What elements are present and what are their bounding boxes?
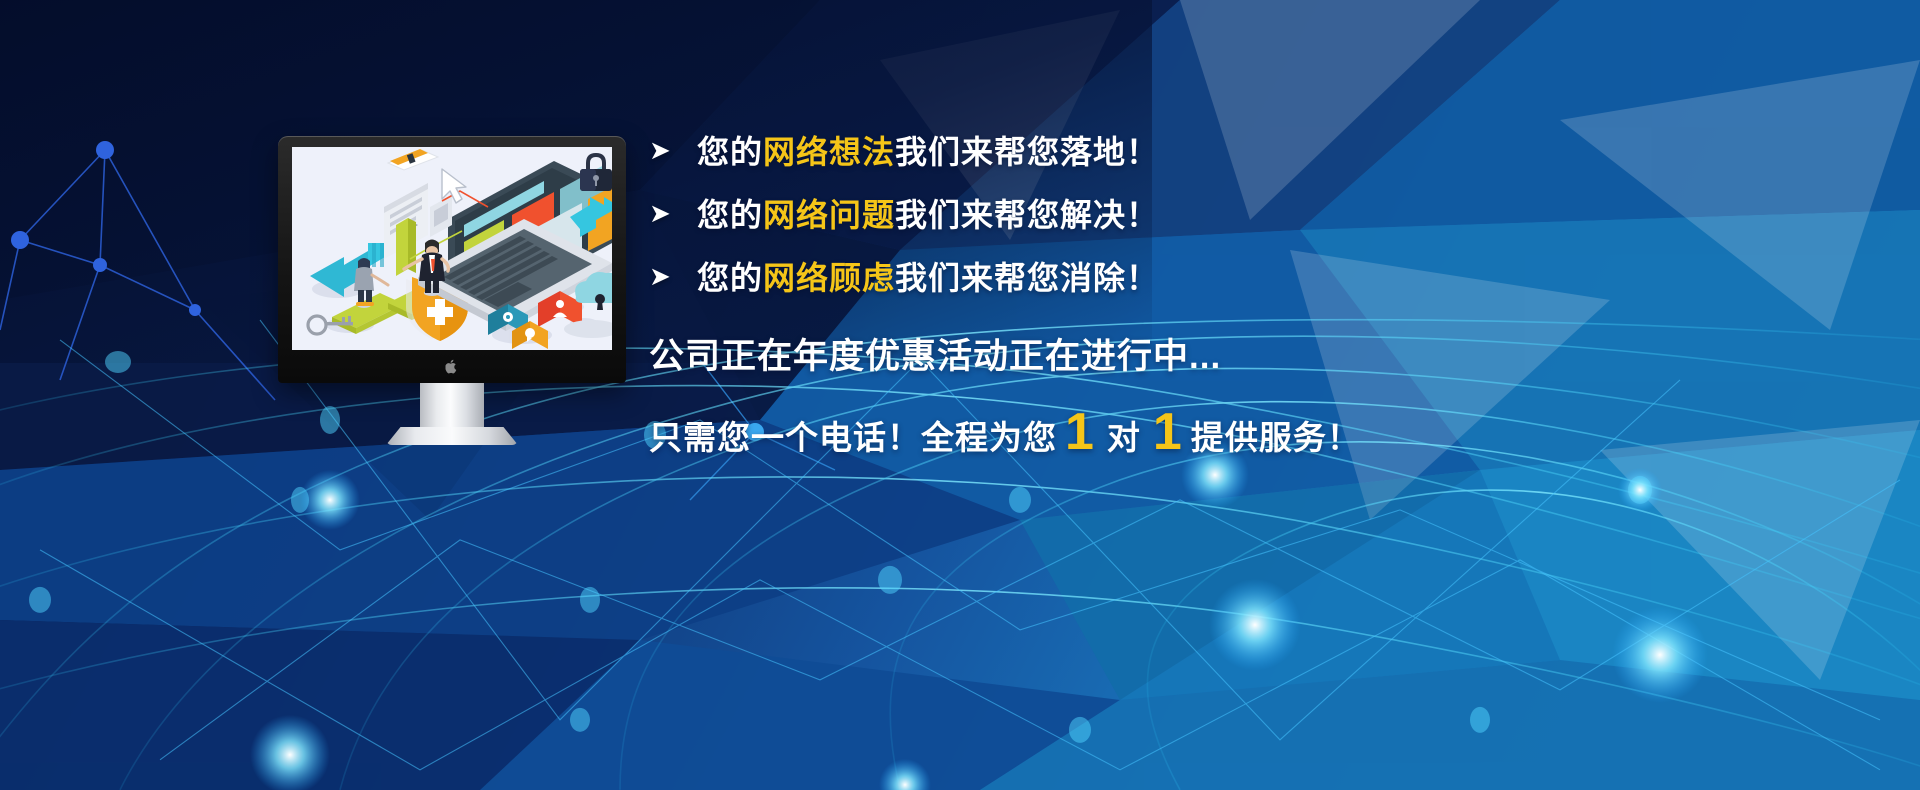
bullet-item: ➤ 您的网络想法我们来帮您落地！: [649, 120, 1829, 180]
cta-lead: 只需您一个电话！全程为您: [649, 411, 1057, 459]
bullet-prefix: 您的: [697, 134, 763, 170]
arrow-right-icon: ➤: [649, 200, 697, 226]
bullet-text: 您的网络顾虑我们来帮您消除！: [697, 253, 1159, 299]
apple-logo-icon: [446, 359, 459, 374]
cta-number-one: 1: [1057, 409, 1103, 456]
bullet-highlight: 网络问题: [763, 197, 895, 233]
bullet-text: 您的网络问题我们来帮您解决！: [697, 190, 1159, 236]
promo-line: 公司正在年度优惠活动正在进行中...: [649, 328, 1829, 379]
bullet-suffix: 我们来帮您消除！: [895, 260, 1159, 296]
cta-line: 只需您一个电话！全程为您 1 对 1 提供服务！: [649, 409, 1829, 459]
arrow-right-icon: ➤: [649, 263, 697, 289]
cta-middle: 对: [1103, 411, 1145, 459]
bullet-prefix: 您的: [697, 197, 763, 233]
hero-banner: ➤ 您的网络想法我们来帮您落地！ ➤ 您的网络问题我们来帮您解决！ ➤ 您的网络…: [0, 0, 1920, 790]
monitor-chin: [278, 350, 626, 383]
bullet-item: ➤ 您的网络顾虑我们来帮您消除！: [649, 246, 1829, 306]
bullet-suffix: 我们来帮您落地！: [895, 134, 1159, 170]
monitor-screen: [292, 147, 612, 350]
bullet-highlight: 网络顾虑: [763, 260, 895, 296]
bullet-item: ➤ 您的网络问题我们来帮您解决！: [649, 183, 1829, 243]
monitor-bezel: [278, 136, 626, 383]
bullet-suffix: 我们来帮您解决！: [895, 197, 1159, 233]
imac-monitor: [278, 136, 626, 446]
cta-tail: 提供服务！: [1191, 411, 1361, 459]
isometric-illustration: [292, 147, 612, 350]
arrow-right-icon: ➤: [649, 137, 697, 163]
bullet-text: 您的网络想法我们来帮您落地！: [697, 127, 1159, 173]
monitor-stand-base: [386, 427, 518, 445]
marketing-copy: ➤ 您的网络想法我们来帮您落地！ ➤ 您的网络问题我们来帮您解决！ ➤ 您的网络…: [649, 120, 1829, 459]
bullet-prefix: 您的: [697, 260, 763, 296]
bullet-highlight: 网络想法: [763, 134, 895, 170]
cta-number-two: 1: [1145, 409, 1191, 456]
